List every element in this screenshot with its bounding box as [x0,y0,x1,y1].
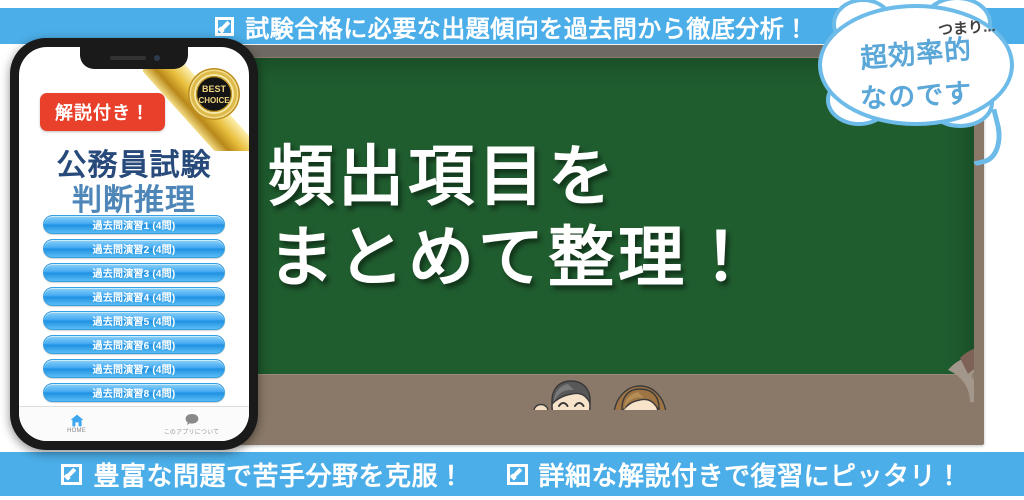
bottom-banner-line: 豊富な問題で苦手分野を克服！ [61,456,464,493]
question-button-list: 過去問演習1 (4問) 過去問演習2 (4問) 過去問演習3 (4問) 過去問演… [19,215,249,426]
phone-screen: BEST CHOICE 解説付き！ 公務員試験 判断推理 過去問演習1 (4問)… [19,47,249,441]
question-button[interactable]: 過去問演習6 (4問) [43,335,225,354]
students-illustration [524,368,704,410]
bottom-banner-text-2: 詳細な解説付きで復習にピッタリ！ [539,456,963,493]
front-camera-icon [154,55,160,61]
question-button[interactable]: 過去問演習4 (4問) [43,287,225,306]
blackboard-headline-line2: まとめて整理！ [268,217,738,298]
home-icon [70,414,84,427]
badge-line2: CHOICE [198,96,230,105]
tab-home-label: HOME [67,428,86,434]
student-female [610,386,671,410]
top-banner-line: 試験合格に必要な出題傾向を過去問から徹底分析！ [215,9,809,44]
bubble-line2: なのです [859,71,973,116]
question-button[interactable]: 過去問演習2 (4問) [43,239,225,258]
bubble-line1: 超効率的 [859,27,974,76]
bottom-banner-line: 詳細な解説付きで復習にピッタリ！ [507,456,963,493]
bubble-text: つまり... 超効率的 なのです [818,4,1014,126]
question-button[interactable]: 過去問演習8 (4問) [43,383,225,402]
checkbox-checked-icon [215,17,234,36]
question-button[interactable]: 過去問演習7 (4問) [43,359,225,378]
bottom-banner-text-1: 豊富な問題で苦手分野を克服！ [93,456,464,493]
student-male [534,381,601,410]
checkbox-checked-icon [507,464,528,485]
promo-screenshot: 頻出項目を まとめて整理！ [0,0,1024,500]
tab-home[interactable]: HOME [19,414,134,434]
question-button[interactable]: 過去問演習1 (4問) [43,215,225,234]
speech-bubble: つまり... 超効率的 なのです [818,4,1014,126]
chat-bubble-icon [185,413,199,426]
top-banner-text: 試験合格に必要な出題傾向を過去問から徹底分析！ [245,9,809,44]
phone-tab-bar: HOME このアプリについて [19,406,249,441]
tab-about-label: このアプリについて [164,427,220,436]
kaisetsu-badge: 解説付き！ [40,93,165,131]
phone-mockup: BEST CHOICE 解説付き！ 公務員試験 判断推理 過去問演習1 (4問)… [10,38,258,450]
owl-professor-illustration [946,178,974,410]
phone-notch [80,47,188,69]
tab-about[interactable]: このアプリについて [134,413,249,436]
bottom-banner: 豊富な問題で苦手分野を克服！ 詳細な解説付きで復習にピッタリ！ [0,452,1024,496]
app-title-line2: 判断推理 [19,175,249,219]
earpiece-speaker [110,56,146,60]
badge-line1: BEST [202,84,227,94]
question-button[interactable]: 過去問演習5 (4問) [43,311,225,330]
blackboard-headline: 頻出項目を まとめて整理！ [268,136,738,297]
blackboard-headline-line1: 頻出項目を [268,136,738,217]
checkbox-checked-icon [61,464,82,485]
question-button[interactable]: 過去問演習3 (4問) [43,263,225,282]
best-choice-badge: BEST CHOICE [187,67,241,121]
